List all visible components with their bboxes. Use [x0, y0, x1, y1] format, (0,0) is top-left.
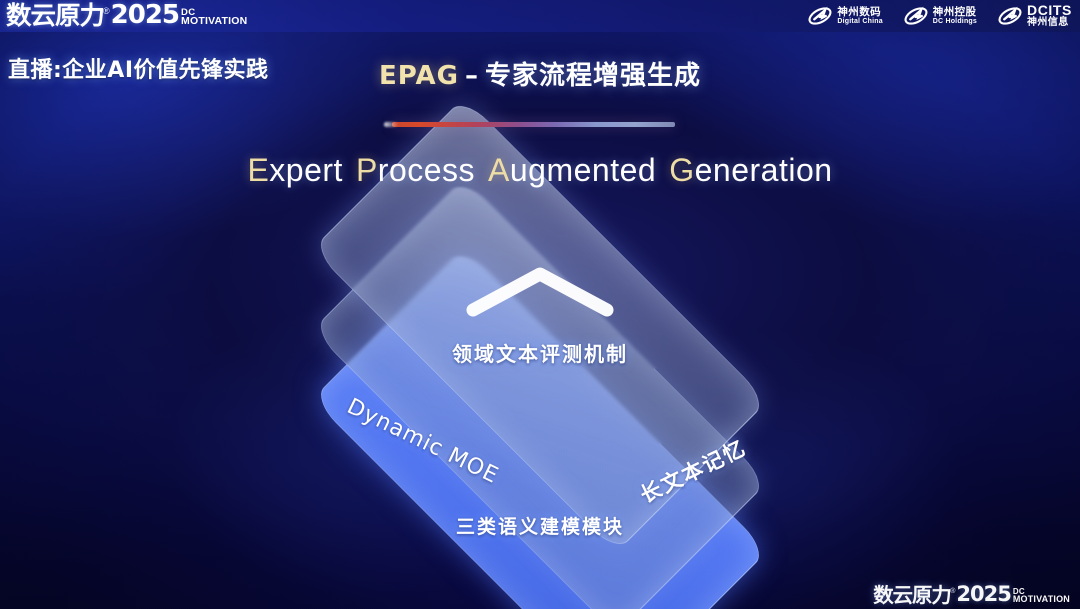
brand-year: 2025 [956, 584, 1010, 605]
live-stream-title: 直播:企业AI价值先锋实践 [8, 52, 269, 84]
title-acronym: EPAG [379, 61, 459, 91]
glow-top-right [670, 0, 1080, 230]
subtitle-initial: G [669, 152, 694, 188]
swirl-logo-icon [903, 3, 929, 29]
swirl-logo-icon [997, 3, 1023, 29]
partner-label: 神州控股 DC Holdings [933, 7, 977, 25]
title-dash: – [459, 61, 485, 91]
registered-mark: ® [950, 588, 955, 595]
brand-dc-line2: MOTIVATION [181, 17, 247, 27]
brand-name-cn: 数云原力 [873, 585, 951, 605]
swirl-logo-icon [807, 3, 833, 29]
brand-dc-motivation: DC MOTIVATION [181, 8, 247, 27]
brand-year: 2025 [111, 2, 179, 28]
partner-logo-digital-china: 神州数码 Digital China [807, 3, 882, 29]
glow-top-left [0, 0, 400, 240]
partner-logo-dc-holdings: 神州控股 DC Holdings [903, 3, 977, 29]
partner-name-cn: 神州信息 [1027, 18, 1072, 29]
page-subtitle: ExpertProcessAugmentedGeneration [0, 152, 1080, 189]
subtitle-word-process: Process [356, 152, 475, 188]
brand-name-cn: 数云原力 [6, 3, 104, 28]
partner-name-en: DC Holdings [933, 18, 977, 25]
footer-watermark-logo: 数云原力 ® 2025 DC MOTIVATION [874, 584, 1070, 605]
slide-canvas: 数云原力 ® 2025 DC MOTIVATION 直播:企业AI价值先锋实践 … [0, 0, 1080, 609]
subtitle-remainder: rocess [378, 152, 475, 188]
subtitle-remainder: xpert [269, 152, 343, 188]
partner-logo-dcits: DCITS 神州信息 [997, 3, 1072, 29]
layer-label-top: 领域文本评测机制 [246, 338, 834, 367]
subtitle-remainder: ugmented [510, 152, 656, 188]
partner-logos: 神州数码 Digital China 神州控股 DC Holdings [807, 3, 1072, 29]
subtitle-remainder: eneration [695, 152, 833, 188]
partner-name-cn: 神州数码 [837, 7, 882, 18]
partner-name-en: Digital China [837, 18, 882, 25]
subtitle-initial: A [488, 152, 510, 188]
brand-dc-motivation: DC MOTIVATION [1013, 588, 1070, 604]
subtitle-word-generation: Generation [669, 152, 832, 188]
subtitle-word-augmented: Augmented [488, 152, 656, 188]
title-divider [392, 122, 675, 127]
brand-logo: 数云原力 ® 2025 DC MOTIVATION [7, 2, 247, 28]
brand-dc-line2: MOTIVATION [1013, 595, 1070, 604]
registered-mark: ® [103, 6, 110, 16]
chevron-up-icon [463, 262, 617, 325]
subtitle-initial: E [247, 152, 269, 188]
subtitle-initial: P [356, 152, 378, 188]
layer-label-bottom: 三类语义建模模块 [246, 512, 834, 539]
partner-label: DCITS 神州信息 [1027, 3, 1072, 28]
partner-name-cn: 神州控股 [933, 7, 977, 18]
title-chinese: 专家流程增强生成 [485, 61, 701, 91]
partner-name-en: DCITS [1027, 3, 1072, 18]
subtitle-word-expert: Expert [247, 152, 342, 188]
partner-label: 神州数码 Digital China [837, 7, 882, 25]
layer-stack-diagram: 领域文本评测机制 Dynamic MOE 长文本记忆 三类语义建模模块 [246, 214, 834, 586]
